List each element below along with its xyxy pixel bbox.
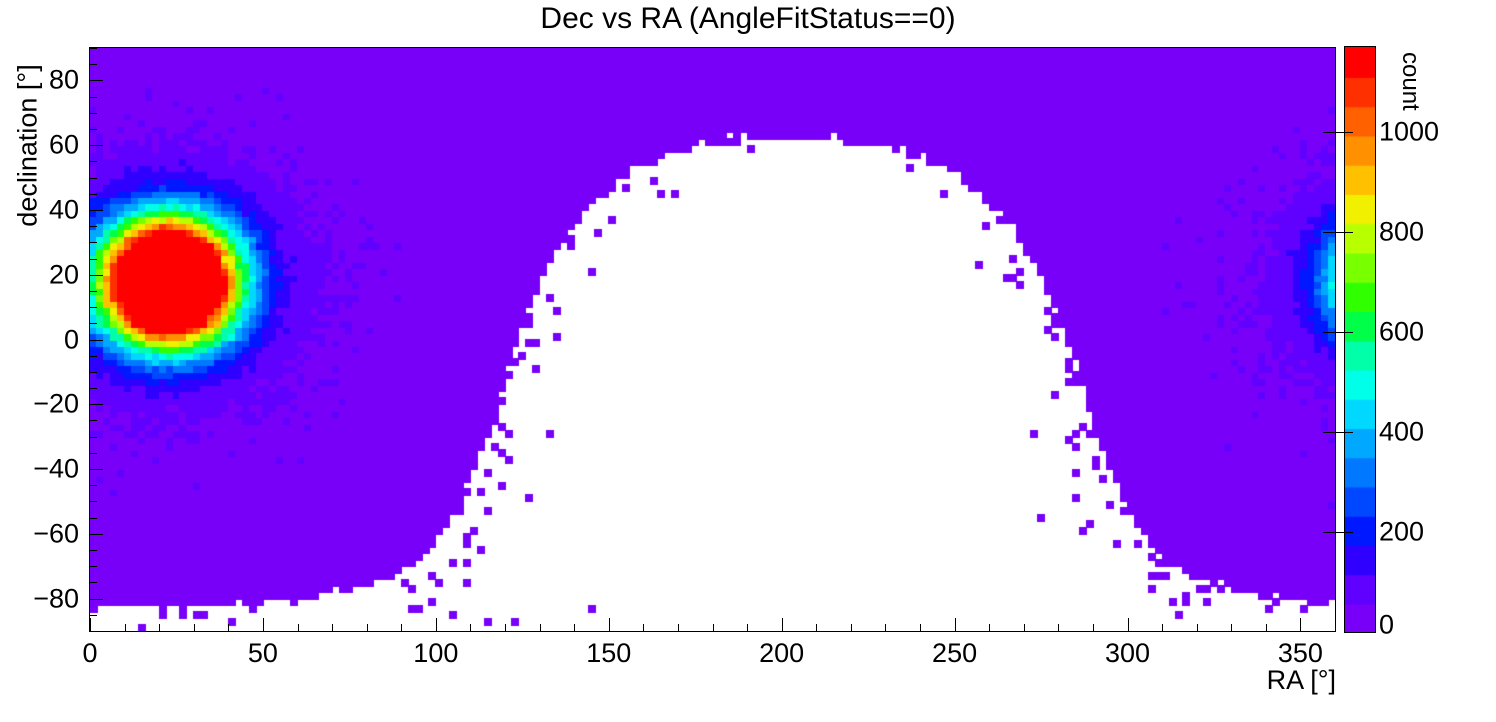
color-scale-label: 400 [1379,417,1424,448]
color-scale-bar: 02004006008001000 [1345,47,1375,632]
x-tick-label: 150 [586,638,631,669]
color-scale-tick [1323,232,1353,233]
color-scale-tick [1323,132,1353,133]
x-axis-title: RA [°] [1267,665,1336,696]
color-scale-tick [1323,532,1353,533]
color-scale-label: 600 [1379,317,1424,348]
color-scale-label: 1000 [1379,117,1439,148]
y-axis-title: declination [°] [13,56,44,236]
color-scale-label: 0 [1379,610,1394,641]
y-tick-label: −80 [0,583,79,614]
plot-frame [89,47,1336,632]
color-scale-tick [1323,332,1353,333]
color-scale-canvas [1345,47,1375,632]
page-title: Dec vs RA (AngleFitStatus==0) [0,2,1496,36]
y-tick-label: 0 [0,324,79,355]
chart-root: Dec vs RA (AngleFitStatus==0) 0501001502… [0,0,1496,722]
color-scale-label: 800 [1379,217,1424,248]
x-tick-label: 100 [413,638,458,669]
color-scale-title: count [1396,52,1424,111]
y-tick-label: −40 [0,454,79,485]
x-tick-label: 50 [248,638,278,669]
y-tick-label: −60 [0,518,79,549]
histogram-canvas [90,48,1335,631]
x-tick-label: 200 [759,638,804,669]
y-tick-label: 20 [0,259,79,290]
y-tick-label: −20 [0,389,79,420]
x-tick-label: 0 [82,638,97,669]
x-tick-label: 250 [932,638,977,669]
color-scale-label: 200 [1379,517,1424,548]
color-scale-tick [1323,432,1353,433]
x-tick-label: 300 [1105,638,1150,669]
